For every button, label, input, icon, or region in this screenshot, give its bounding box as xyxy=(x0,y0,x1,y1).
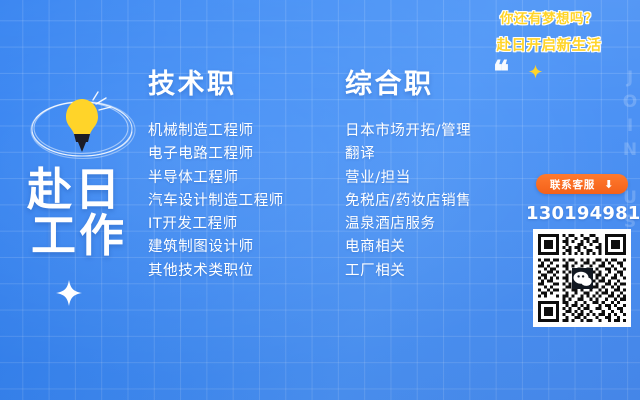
arrow-down-icon: ⬇ xyxy=(604,179,614,190)
list-item: 温泉酒店服务 xyxy=(345,213,545,236)
promo-line-2: 赴日开启新生活 xyxy=(474,34,624,55)
quote-mark-icon: ❝ xyxy=(493,58,509,88)
qr-code[interactable] xyxy=(533,229,631,327)
list-item: 机械制造工程师 xyxy=(148,120,328,143)
job-column-general: 综合职 日本市场开拓/管理 翻译 营业/担当 免税店/药妆店销售 温泉酒店服务 … xyxy=(345,62,545,283)
list-item: 日本市场开拓/管理 xyxy=(345,120,545,143)
promo-line-1: 你还有梦想吗？ xyxy=(474,7,624,27)
title-line-2: 工作 xyxy=(27,213,157,259)
list-item: 半导体工程师 xyxy=(148,167,328,190)
list-item: 电子电路工程师 xyxy=(148,143,328,166)
list-item: 汽车设计制造工程师 xyxy=(148,190,328,213)
list-item: 营业/担当 xyxy=(345,167,545,190)
list-item: 其他技术类职位 xyxy=(148,260,328,283)
list-item: 工厂相关 xyxy=(345,260,545,283)
list-item: 建筑制图设计师 xyxy=(148,236,328,259)
promo-text-block: 你还有梦想吗？ 赴日开启新生活 xyxy=(474,7,624,55)
job-list-general: 日本市场开拓/管理 翻译 营业/担当 免税店/药妆店销售 温泉酒店服务 电商相关… xyxy=(345,120,545,283)
job-list-technical: 机械制造工程师 电子电路工程师 半导体工程师 汽车设计制造工程师 IT开发工程师… xyxy=(148,120,328,283)
promo-banner: 赴日 工作 技术职 机械制造工程师 电子电路工程师 半导体工程师 汽车设计制造工… xyxy=(0,0,640,400)
list-item: IT开发工程师 xyxy=(148,213,328,236)
page-title: 赴日 工作 xyxy=(27,167,157,259)
list-item: 电商相关 xyxy=(345,236,545,259)
contact-button-label: 联系客服 xyxy=(550,177,595,192)
list-item: 翻译 xyxy=(345,143,545,166)
list-item: 免税店/药妆店销售 xyxy=(345,190,545,213)
qr-center-logo xyxy=(572,268,593,289)
column-heading-technical: 技术职 xyxy=(148,62,328,101)
phone-number[interactable]: 13019498186 xyxy=(526,203,638,224)
column-heading-general: 综合职 xyxy=(345,62,545,101)
lightbulb-icon xyxy=(24,82,144,174)
sparkle-icon xyxy=(54,278,84,308)
star-icon xyxy=(528,64,543,79)
job-column-technical: 技术职 机械制造工程师 电子电路工程师 半导体工程师 汽车设计制造工程师 IT开… xyxy=(148,62,328,283)
contact-support-button[interactable]: 联系客服 ⬇ xyxy=(536,174,628,194)
